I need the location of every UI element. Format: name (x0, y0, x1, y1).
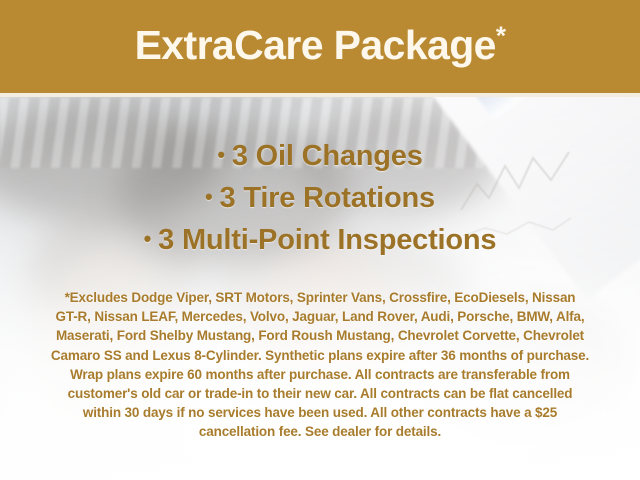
bullet-icon: • (205, 184, 213, 209)
disclaimer-line: cancellation fee. See dealer for details… (0, 422, 640, 441)
disclaimer-line: *Excludes Dodge Viper, SRT Motors, Sprin… (0, 288, 640, 307)
page-title-text: ExtraCare Package (135, 22, 496, 68)
header-underline (0, 93, 640, 97)
disclaimer-text: *Excludes Dodge Viper, SRT Motors, Sprin… (0, 288, 640, 442)
extracare-package-ad: ExtraCare Package* •3 Oil Changes •3 Tir… (0, 0, 640, 480)
page-title: ExtraCare Package* (135, 25, 506, 66)
disclaimer-line: Maserati, Ford Shelby Mustang, Ford Rous… (0, 326, 640, 345)
benefit-item-label: 3 Oil Changes (232, 140, 423, 172)
disclaimer-line: GT-R, Nissan LEAF, Mercedes, Volvo, Jagu… (0, 307, 640, 326)
disclaimer-line: Wrap plans expire 60 months after purcha… (0, 365, 640, 384)
benefits-list: •3 Oil Changes •3 Tire Rotations •3 Mult… (0, 136, 640, 262)
disclaimer-line: Camaro SS and Lexus 8-Cylinder. Syntheti… (0, 346, 640, 365)
benefit-item-label: 3 Multi-Point Inspections (158, 224, 496, 256)
benefit-item: •3 Multi-Point Inspections (0, 220, 640, 262)
page-title-asterisk: * (496, 20, 506, 50)
bullet-icon: • (144, 226, 152, 251)
benefit-item: •3 Tire Rotations (0, 178, 640, 220)
header-band: ExtraCare Package* (0, 0, 640, 93)
disclaimer-line: within 30 days if no services have been … (0, 403, 640, 422)
benefit-item: •3 Oil Changes (0, 136, 640, 178)
bullet-icon: • (217, 142, 225, 167)
benefit-item-label: 3 Tire Rotations (220, 182, 435, 214)
disclaimer-line: customer's old car or trade-in to their … (0, 384, 640, 403)
